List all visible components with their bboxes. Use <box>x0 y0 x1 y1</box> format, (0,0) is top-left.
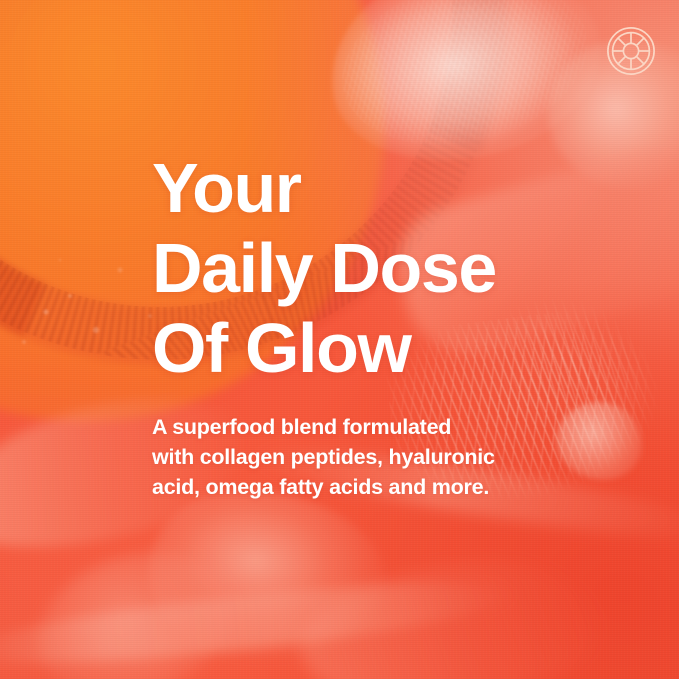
creative-canvas: Your Daily Dose Of Glow A superfood blen… <box>0 0 679 679</box>
sun-wheel-logo-icon <box>606 26 656 76</box>
hero-copy-block: Your Daily Dose Of Glow A superfood blen… <box>152 148 632 502</box>
hero-subcopy: A superfood blend formulated with collag… <box>152 412 632 502</box>
brand-logo <box>606 26 656 76</box>
page-title: Your Daily Dose Of Glow <box>152 148 632 388</box>
